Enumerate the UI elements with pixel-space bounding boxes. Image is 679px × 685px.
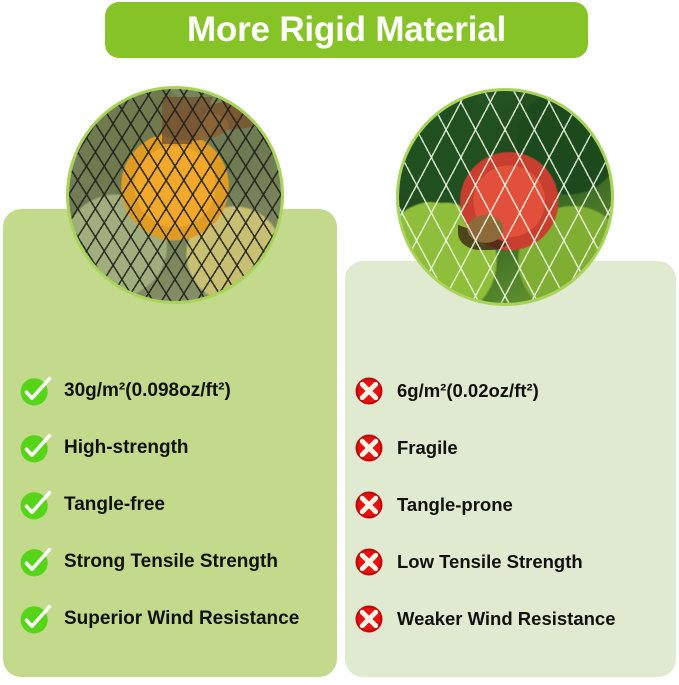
feature-label: High-strength bbox=[64, 437, 189, 459]
feature-label: Weaker Wind Resistance bbox=[397, 608, 616, 630]
check-circle-icon bbox=[18, 488, 64, 522]
check-circle-icon bbox=[18, 602, 64, 636]
check-circle-icon bbox=[18, 431, 64, 465]
list-item: High-strength bbox=[18, 419, 330, 476]
check-circle-icon bbox=[18, 374, 64, 408]
photo-persimmon-under-dark-netting bbox=[66, 86, 284, 304]
list-item: Low Tensile Strength bbox=[352, 533, 672, 590]
light-netting-overlay bbox=[396, 88, 614, 306]
feature-list-left: 30g/m²(0.098oz/ft²) High-strength Tangle… bbox=[18, 362, 330, 647]
check-circle-icon bbox=[18, 545, 64, 579]
list-item: Superior Wind Resistance bbox=[18, 590, 330, 647]
feature-label: Low Tensile Strength bbox=[397, 551, 583, 573]
feature-label: Tangle-free bbox=[64, 494, 165, 516]
feature-label: Tangle-prone bbox=[397, 494, 513, 516]
infographic-canvas: More Rigid Material 30g/m²(0.098oz/ft²) bbox=[0, 0, 679, 685]
cross-circle-icon bbox=[352, 490, 397, 520]
photo-pomegranate-under-light-netting bbox=[396, 88, 614, 306]
list-item: Strong Tensile Strength bbox=[18, 533, 330, 590]
feature-label: 30g/m²(0.098oz/ft²) bbox=[64, 380, 231, 402]
list-item: Fragile bbox=[352, 419, 672, 476]
cross-circle-icon bbox=[352, 547, 397, 577]
cross-circle-icon bbox=[352, 604, 397, 634]
cross-circle-icon bbox=[352, 433, 397, 463]
list-item: 30g/m²(0.098oz/ft²) bbox=[18, 362, 330, 419]
feature-label: 6g/m²(0.02oz/ft²) bbox=[397, 380, 539, 402]
dark-netting-overlay bbox=[66, 86, 284, 304]
page-title: More Rigid Material bbox=[187, 10, 506, 50]
feature-list-right: 6g/m²(0.02oz/ft²) Fragile Tangle-pro bbox=[352, 362, 672, 647]
page-title-banner: More Rigid Material bbox=[105, 2, 588, 58]
list-item: Weaker Wind Resistance bbox=[352, 590, 672, 647]
feature-label: Superior Wind Resistance bbox=[64, 608, 299, 630]
list-item: 6g/m²(0.02oz/ft²) bbox=[352, 362, 672, 419]
feature-label: Fragile bbox=[397, 437, 458, 459]
list-item: Tangle-prone bbox=[352, 476, 672, 533]
list-item: Tangle-free bbox=[18, 476, 330, 533]
cross-circle-icon bbox=[352, 376, 397, 406]
feature-label: Strong Tensile Strength bbox=[64, 551, 278, 573]
